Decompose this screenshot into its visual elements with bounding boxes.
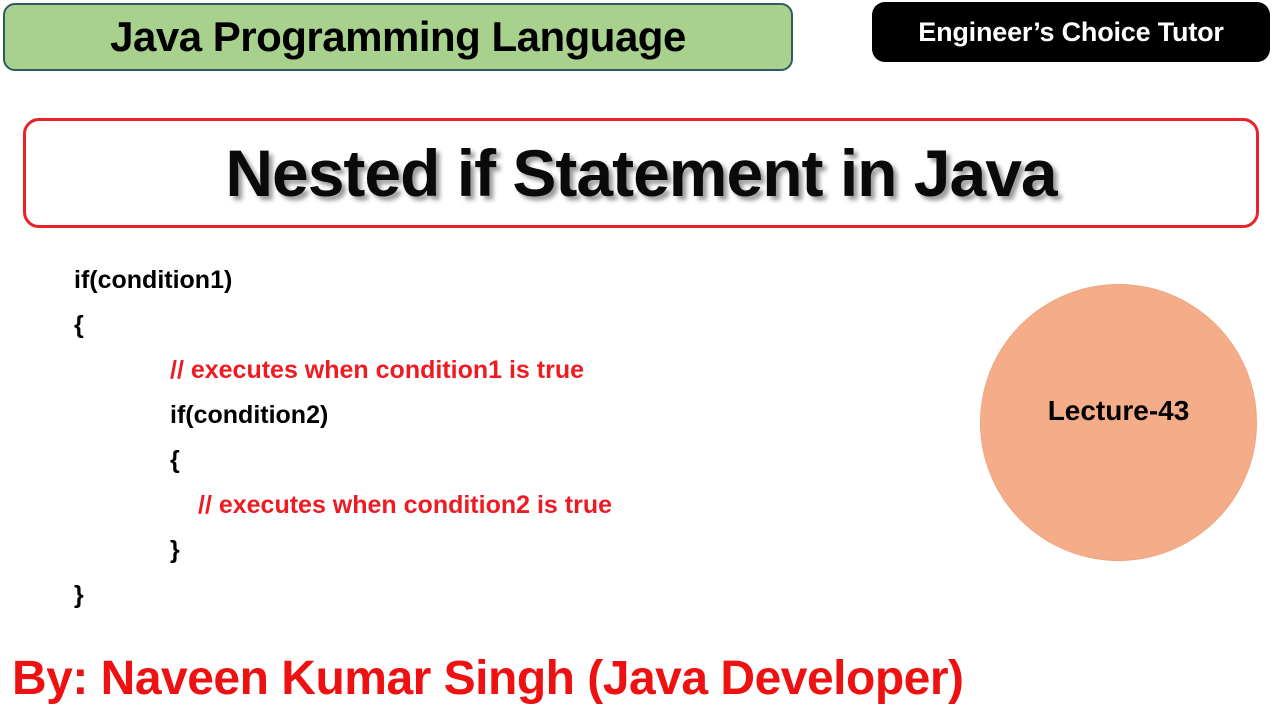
code-line: { [74, 438, 874, 483]
author-byline: By: Naveen Kumar Singh (Java Developer) [12, 651, 964, 706]
lecture-badge-label: Lecture-43 [1048, 397, 1190, 425]
title-box: Nested if Statement in Java [23, 118, 1259, 228]
code-line: } [74, 528, 874, 573]
course-banner-label: Java Programming Language [110, 16, 686, 58]
course-banner: Java Programming Language [3, 3, 793, 71]
brand-badge-label: Engineer’s Choice Tutor [918, 19, 1223, 46]
slide-canvas: Java Programming Language Engineer’s Cho… [0, 0, 1280, 720]
code-comment-line: // executes when condition2 is true [74, 483, 874, 528]
code-comment-line: // executes when condition1 is true [74, 348, 874, 393]
code-line: { [74, 303, 874, 348]
page-title: Nested if Statement in Java [225, 140, 1056, 206]
code-line: if(condition2) [74, 393, 874, 438]
lecture-badge: Lecture-43 [980, 284, 1257, 561]
code-block: if(condition1){// executes when conditio… [74, 258, 874, 618]
code-line: if(condition1) [74, 258, 874, 303]
brand-badge: Engineer’s Choice Tutor [872, 2, 1270, 62]
code-line: } [74, 573, 874, 618]
